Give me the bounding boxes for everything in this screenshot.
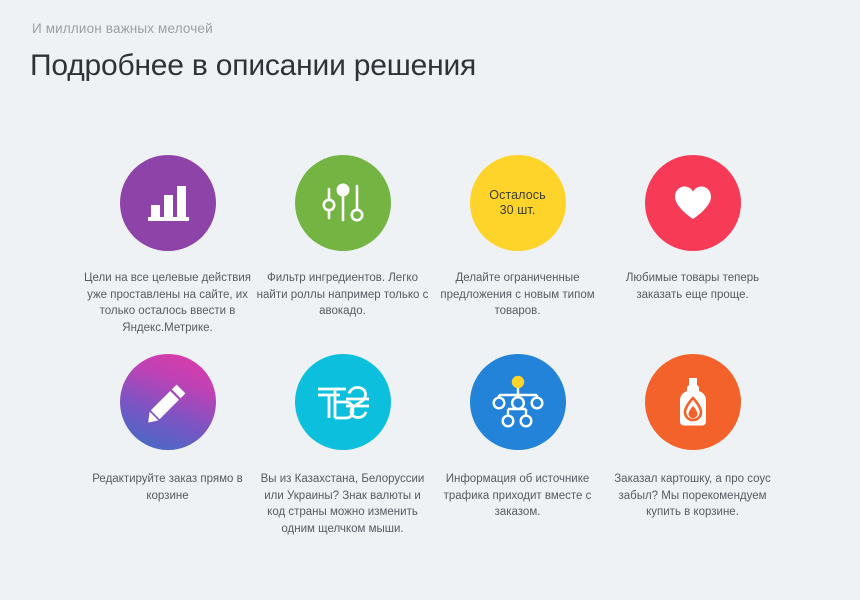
features-grid: Цели на все целевые действия уже простав… xyxy=(0,155,860,537)
feature-caption: Любимые товары теперь заказать еще проще… xyxy=(607,270,779,303)
icon-circle-currency-country[interactable] xyxy=(295,354,391,450)
heart-icon xyxy=(673,185,713,221)
sauce-bottle-icon xyxy=(675,376,711,428)
pencil-icon xyxy=(146,380,190,424)
bar-chart-icon xyxy=(145,181,191,225)
icon-circle-traffic-source[interactable] xyxy=(470,354,566,450)
feature-caption: Фильтр ингредиентов. Легко найти роллы н… xyxy=(257,270,429,320)
stock-badge-text: Осталось 30 шт. xyxy=(489,188,545,218)
eyebrow-text: И миллион важных мелочей xyxy=(32,22,830,36)
feature-caption: Делайте ограниченные предложения с новым… xyxy=(432,270,604,320)
currency-symbols-icon xyxy=(313,382,373,422)
icon-circle-favorites[interactable] xyxy=(645,155,741,251)
feature-card-favorites[interactable]: Любимые товары теперь заказать еще проще… xyxy=(605,155,780,336)
icon-circle-goals-metrika[interactable] xyxy=(120,155,216,251)
feature-caption: Вы из Казахстана, Белоруссии или Украины… xyxy=(257,471,429,537)
page-header: И миллион важных мелочей Подробнее в опи… xyxy=(30,22,830,81)
feature-caption: Заказал картошку, а про соус забыл? Мы п… xyxy=(607,471,779,521)
feature-card-edit-order[interactable]: Редактируйте заказ прямо в корзине xyxy=(80,354,255,537)
page-title: Подробнее в описании решения xyxy=(30,50,830,82)
feature-card-limited-stock[interactable]: Осталось 30 шт. Делайте ограниченные пре… xyxy=(430,155,605,336)
feature-caption: Информация об источнике трафика приходит… xyxy=(432,471,604,521)
feature-card-currency-country[interactable]: Вы из Казахстана, Белоруссии или Украины… xyxy=(255,354,430,537)
feature-card-ingredient-filter[interactable]: Фильтр ингредиентов. Легко найти роллы н… xyxy=(255,155,430,336)
sliders-icon xyxy=(322,180,364,226)
feature-card-traffic-source[interactable]: Информация об источнике трафика приходит… xyxy=(430,354,605,537)
icon-circle-upsell-sauce[interactable] xyxy=(645,354,741,450)
icon-circle-limited-stock[interactable]: Осталось 30 шт. xyxy=(470,155,566,251)
feature-card-goals-metrika[interactable]: Цели на все целевые действия уже простав… xyxy=(80,155,255,336)
tree-hierarchy-icon xyxy=(492,375,544,429)
feature-card-upsell-sauce[interactable]: Заказал картошку, а про соус забыл? Мы п… xyxy=(605,354,780,537)
feature-caption: Цели на все целевые действия уже простав… xyxy=(82,270,254,336)
icon-circle-edit-order[interactable] xyxy=(120,354,216,450)
icon-circle-ingredient-filter[interactable] xyxy=(295,155,391,251)
feature-caption: Редактируйте заказ прямо в корзине xyxy=(82,471,254,504)
